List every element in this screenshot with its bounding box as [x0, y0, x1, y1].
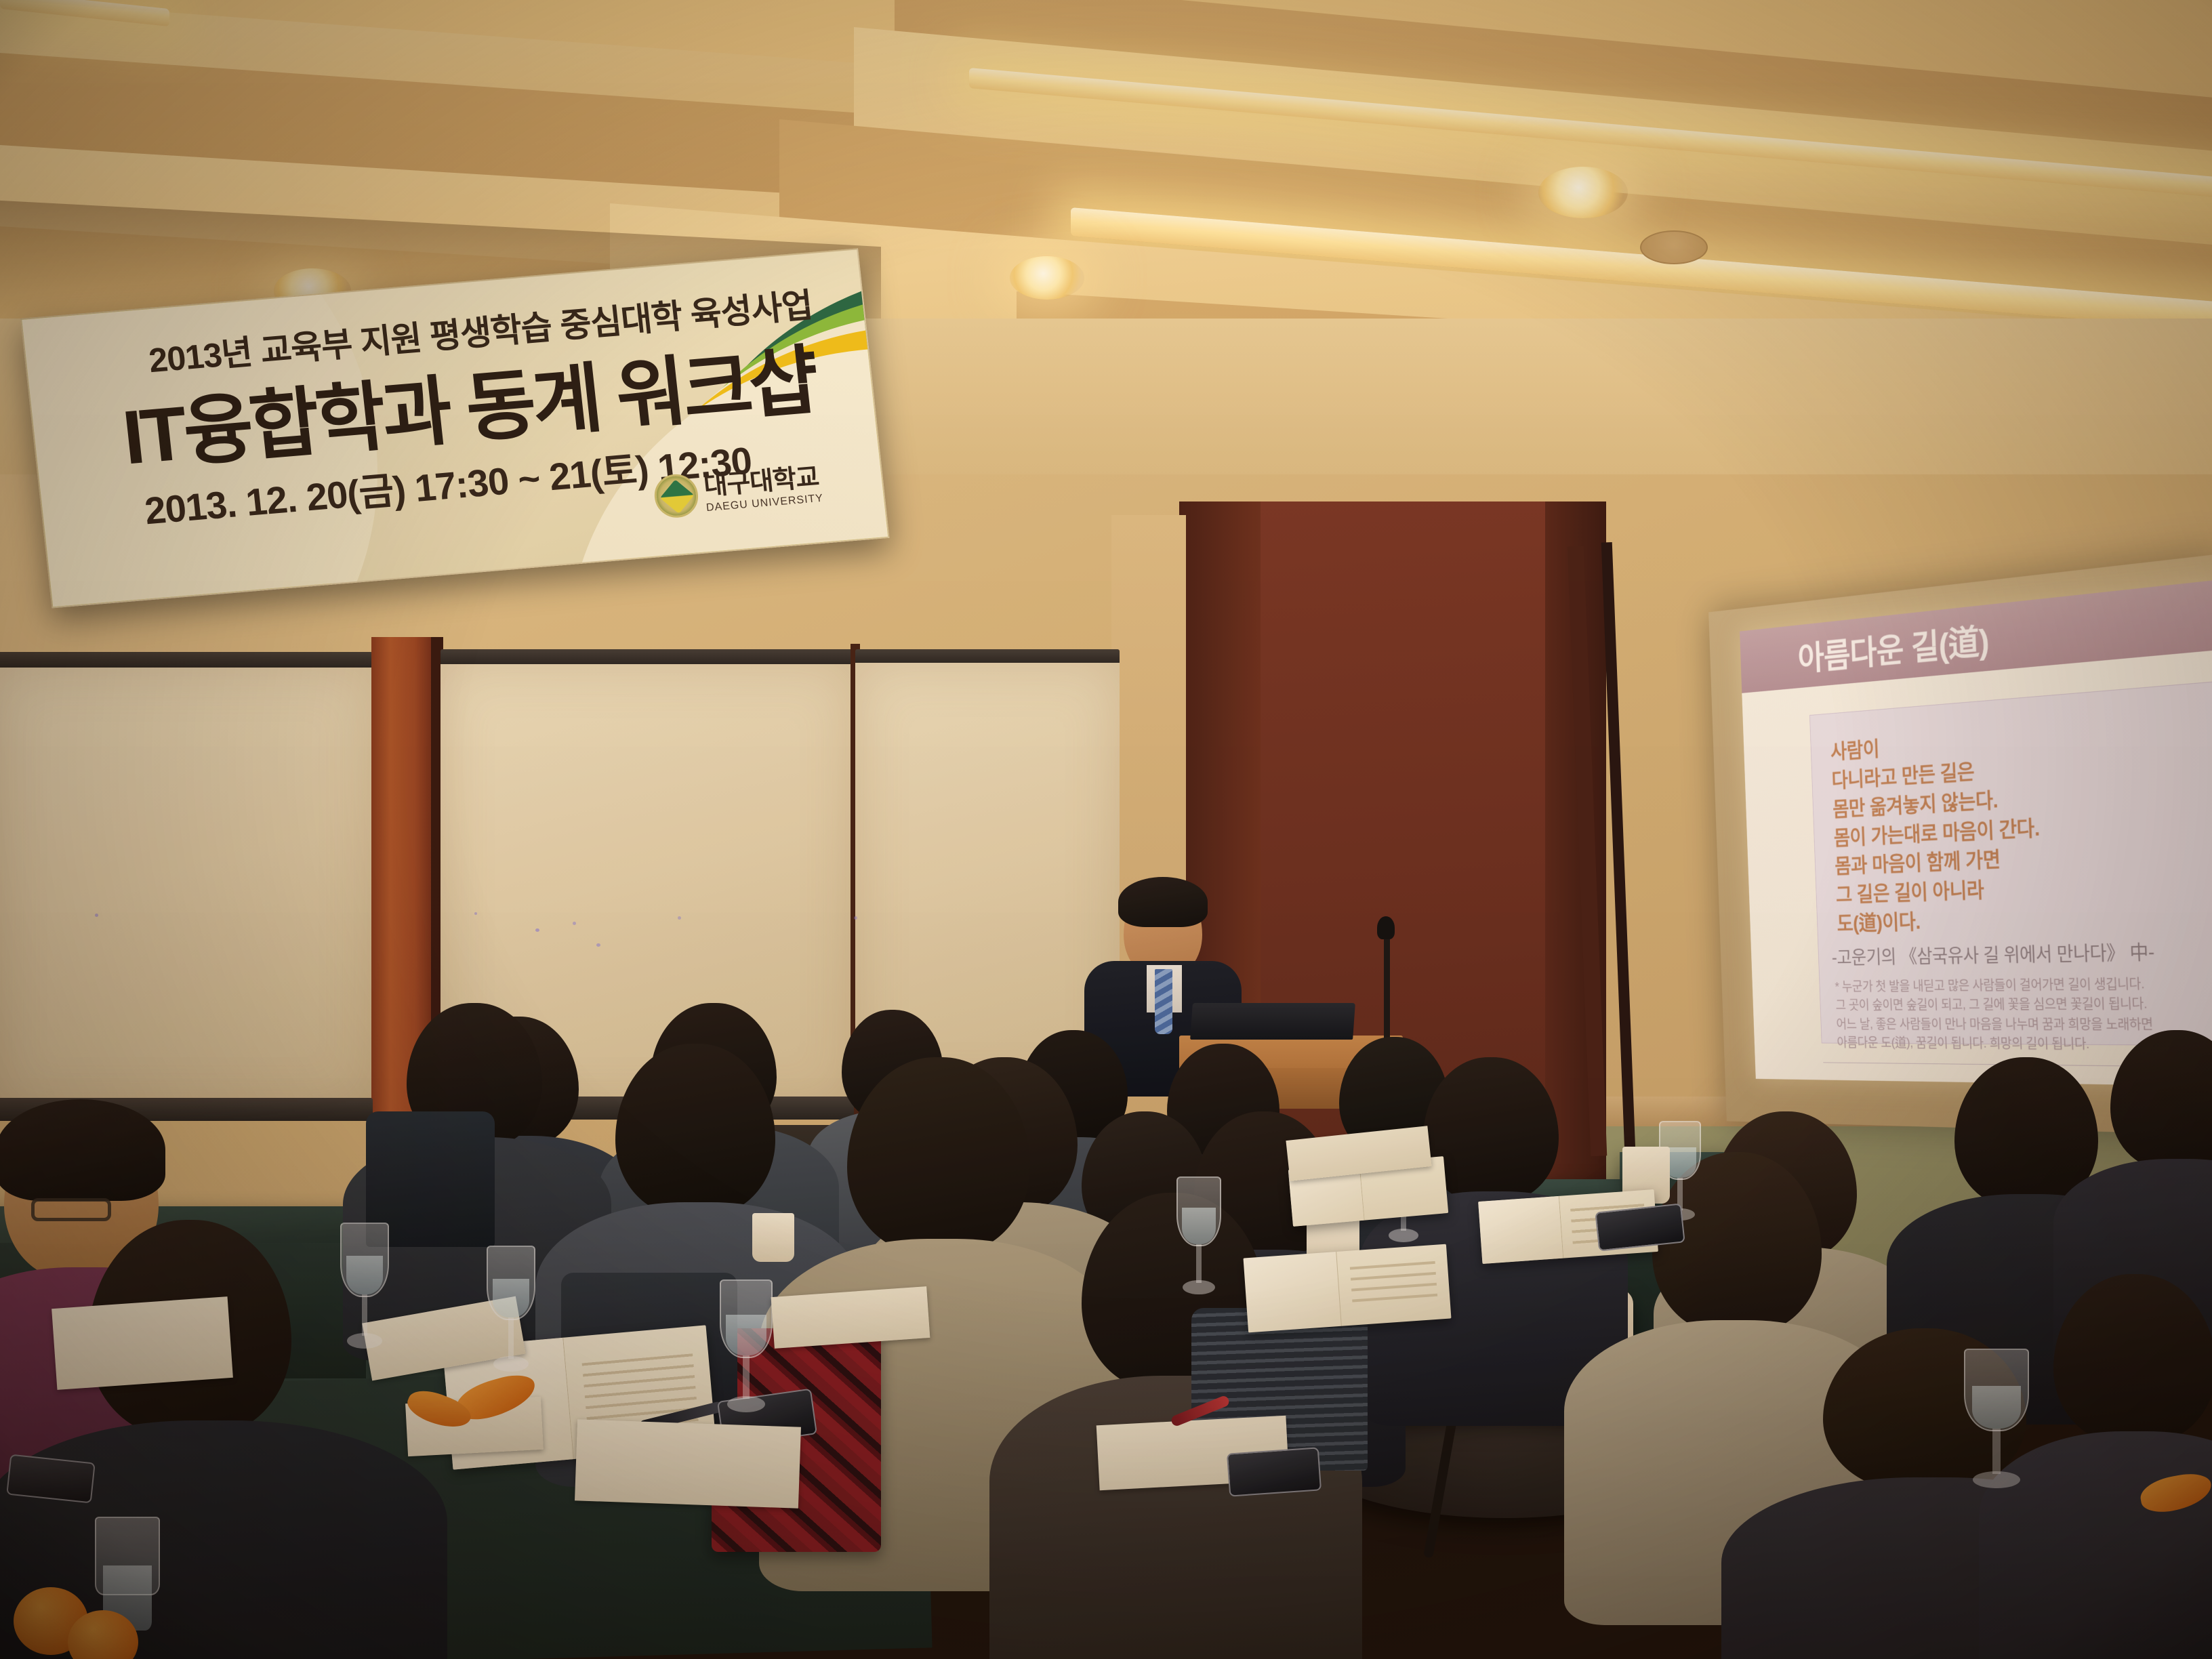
ceiling-vent-1 — [1640, 230, 1708, 264]
slide-note-line-1: * 누군가 첫 발을 내딛고 많은 사람들이 걸어가면 길이 생깁니다. — [1835, 975, 2152, 997]
slide-quote-card: 사람이 다니라고 만든 길은 몸만 옮겨놓지 않는다. 몸이 가는대로 마음이 … — [1809, 681, 2212, 1046]
presentation-slide: 아름다운 길(道) 사람이 다니라고 만든 길은 몸만 옮겨놓지 않는다. 몸이… — [1740, 579, 2212, 1086]
poem-line-7: 도(道)이다. — [1837, 904, 2044, 939]
light-speck — [573, 922, 576, 925]
daegu-university-emblem-icon — [653, 472, 701, 519]
water-glass[interactable] — [340, 1223, 389, 1351]
laptop[interactable] — [1190, 1003, 1355, 1040]
light-speck — [95, 914, 98, 917]
workshop-booklet[interactable] — [1244, 1244, 1452, 1333]
head — [2053, 1274, 2212, 1443]
poem-source: -고운기의 《삼국유사 길 위에서 만나다》 中- — [1831, 936, 2154, 970]
head — [2110, 1030, 2212, 1170]
presenter-necktie — [1155, 969, 1172, 1034]
eyeglasses-icon — [31, 1198, 111, 1221]
water-glass[interactable] — [1176, 1176, 1221, 1297]
light-speck — [678, 916, 681, 920]
slide-title: 아름다운 길(道) — [1797, 613, 1990, 680]
ceiling-downlight-2 — [1010, 256, 1084, 300]
water-glass[interactable] — [487, 1246, 535, 1374]
handout-paper[interactable] — [52, 1296, 233, 1390]
workshop-photo-scene: 2013년 교육부 지원 평생학습 중심대학 육성사업 IT융합학과 동계 워크… — [0, 0, 2212, 1659]
head — [615, 1044, 775, 1216]
microphone-icon — [1377, 916, 1395, 939]
booklet-left-page — [1478, 1196, 1563, 1264]
ceiling-downlight-3 — [1538, 167, 1628, 218]
head — [847, 1057, 1030, 1254]
roller-screen-1[interactable] — [0, 668, 373, 1111]
smartphone[interactable] — [1227, 1447, 1322, 1496]
water-glass[interactable] — [1964, 1349, 2029, 1491]
slide-note-line-2: 그 곳이 숲이면 숲길이 되고, 그 길에 꽃을 심으면 꽃길이 됩니다. — [1835, 994, 2152, 1015]
handout-paper[interactable] — [771, 1286, 930, 1349]
audience-member — [2020, 1274, 2212, 1659]
light-speck — [596, 943, 600, 947]
booklet-left-page — [1244, 1252, 1342, 1332]
notebook-page[interactable] — [575, 1419, 801, 1508]
water-glass[interactable] — [720, 1279, 773, 1415]
light-speck — [535, 928, 539, 932]
audience-member — [2087, 1030, 2212, 1315]
light-speck — [854, 916, 857, 920]
booklet-text-lines — [1350, 1261, 1438, 1309]
paper-cup[interactable] — [752, 1213, 794, 1262]
presenter-hair — [1118, 877, 1208, 927]
hair — [0, 1099, 165, 1201]
light-speck — [474, 912, 477, 915]
